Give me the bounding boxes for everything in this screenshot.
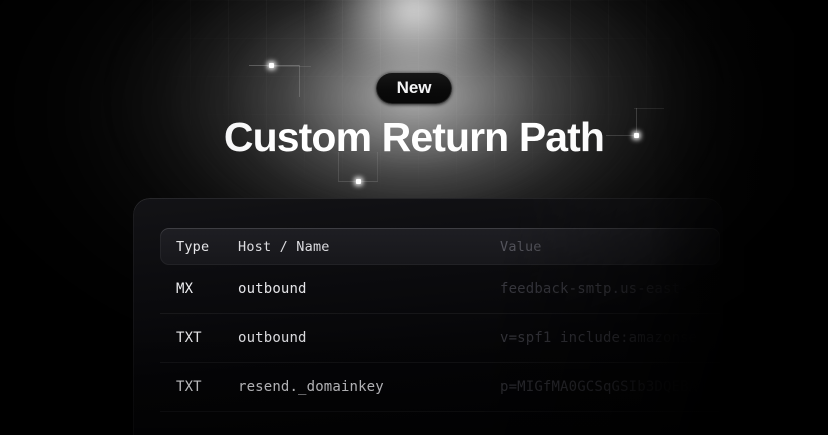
background-grid-columns <box>0 0 828 215</box>
cell-value: v=spf1 include:amazonses.com ~all <box>500 330 704 346</box>
cell-type: MX <box>160 281 238 297</box>
cell-value: p=MIGfMA0GCSqGSIb3DQEBAQUAA4GNADCBiQKBgQ <box>500 379 704 395</box>
table-row[interactable]: TXT resend._domainkey p=MIGfMA0GCSqGSIb3… <box>160 363 720 412</box>
table-header-row: Type Host / Name Value <box>160 228 720 265</box>
badge-container: New <box>0 72 828 104</box>
page-title: Custom Return Path <box>0 114 828 161</box>
new-badge: New <box>376 72 453 104</box>
hero-stage: New Custom Return Path Type Host / Name … <box>0 0 828 435</box>
table-row[interactable]: TXT outbound v=spf1 include:amazonses.co… <box>160 314 720 363</box>
cell-host: outbound <box>238 281 500 297</box>
column-header-type: Type <box>160 239 238 255</box>
column-header-value: Value <box>500 239 704 255</box>
column-header-host: Host / Name <box>238 239 500 255</box>
cell-type: TXT <box>160 379 238 395</box>
background-grid-rows <box>0 0 828 215</box>
cell-host: resend._domainkey <box>238 379 500 395</box>
cell-host: outbound <box>238 330 500 346</box>
bracket-node-icon <box>269 63 274 68</box>
cell-value: feedback-smtp.us-east-1.amazonses.com <box>500 281 704 297</box>
dns-records-card: Type Host / Name Value MX outbound feedb… <box>133 198 723 435</box>
cell-type: TXT <box>160 330 238 346</box>
dns-records-table: Type Host / Name Value MX outbound feedb… <box>160 228 720 412</box>
bracket-node-icon <box>356 179 361 184</box>
table-row[interactable]: MX outbound feedback-smtp.us-east-1.amaz… <box>160 265 720 314</box>
